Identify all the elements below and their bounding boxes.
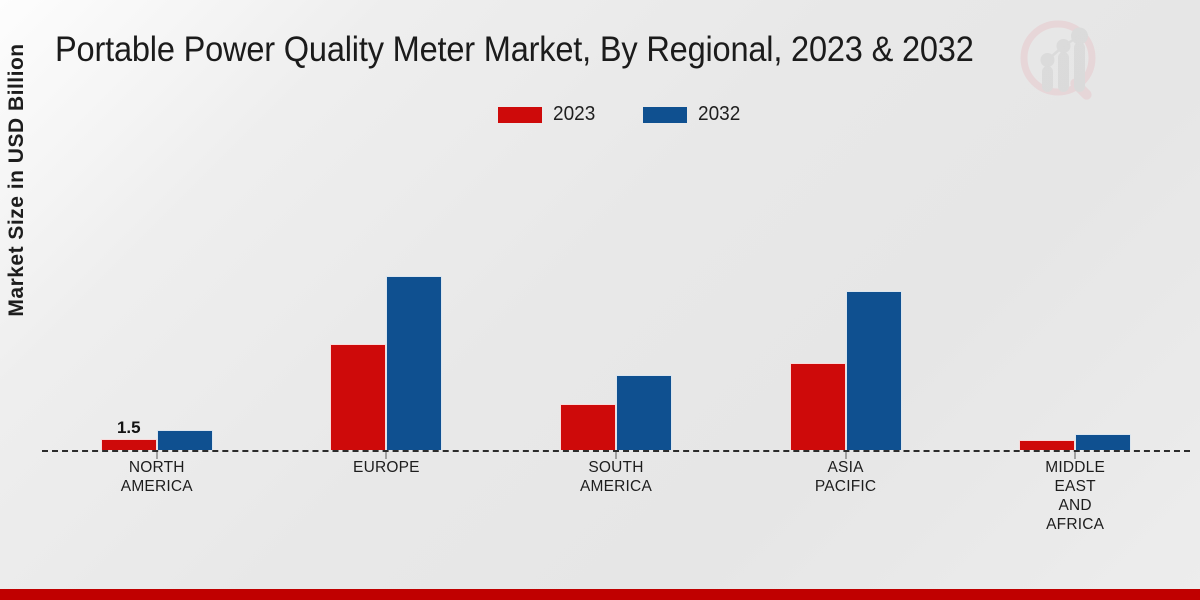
bar-pair bbox=[1019, 150, 1131, 450]
y-axis-title: Market Size in USD Billion bbox=[5, 15, 29, 345]
bar-2032[interactable] bbox=[386, 276, 442, 450]
bar-group bbox=[731, 150, 961, 450]
bar-value-label: 1.5 bbox=[117, 418, 141, 438]
chart-container: Portable Power Quality Meter Market, By … bbox=[0, 0, 1200, 600]
watermark-logo-icon bbox=[1008, 8, 1112, 112]
legend-item-2023[interactable]: 2023 bbox=[498, 103, 598, 126]
chart-title: Portable Power Quality Meter Market, By … bbox=[55, 28, 974, 72]
bar-2023[interactable] bbox=[560, 404, 616, 450]
bar-2023[interactable] bbox=[790, 363, 846, 450]
category-label: NORTH AMERICA bbox=[42, 458, 272, 534]
plot-area: 1.5 bbox=[42, 150, 1190, 450]
chart-legend: 2023 2032 bbox=[0, 103, 1200, 126]
bar-2023[interactable]: 1.5 bbox=[101, 439, 157, 450]
category-label: EUROPE bbox=[272, 458, 502, 534]
bar-2032[interactable] bbox=[1075, 434, 1131, 450]
legend-swatch-2023 bbox=[498, 107, 542, 123]
bar-pair bbox=[560, 150, 672, 450]
bar-pair: 1.5 bbox=[101, 150, 213, 450]
legend-item-2032[interactable]: 2032 bbox=[643, 103, 743, 126]
bar-2032[interactable] bbox=[846, 291, 902, 451]
bar-group bbox=[501, 150, 731, 450]
bottom-accent-stripe bbox=[0, 589, 1200, 600]
bar-2032[interactable] bbox=[157, 430, 213, 450]
legend-label-2023: 2023 bbox=[553, 103, 595, 126]
legend-label-2032: 2032 bbox=[698, 103, 740, 126]
legend-swatch-2032 bbox=[643, 107, 687, 123]
bar-groups: 1.5 bbox=[42, 150, 1190, 450]
x-axis-category-labels: NORTH AMERICAEUROPESOUTH AMERICAASIA PAC… bbox=[42, 458, 1190, 534]
bar-pair bbox=[790, 150, 902, 450]
bar-2032[interactable] bbox=[616, 375, 672, 450]
bar-2023[interactable] bbox=[1019, 440, 1075, 450]
x-axis-baseline bbox=[42, 450, 1190, 452]
bar-pair bbox=[330, 150, 442, 450]
bar-group bbox=[272, 150, 502, 450]
bar-group bbox=[960, 150, 1190, 450]
bar-2023[interactable] bbox=[330, 344, 386, 450]
category-label: MIDDLE EAST AND AFRICA bbox=[960, 458, 1190, 534]
bar-group: 1.5 bbox=[42, 150, 272, 450]
category-label: SOUTH AMERICA bbox=[501, 458, 731, 534]
category-label: ASIA PACIFIC bbox=[731, 458, 961, 534]
